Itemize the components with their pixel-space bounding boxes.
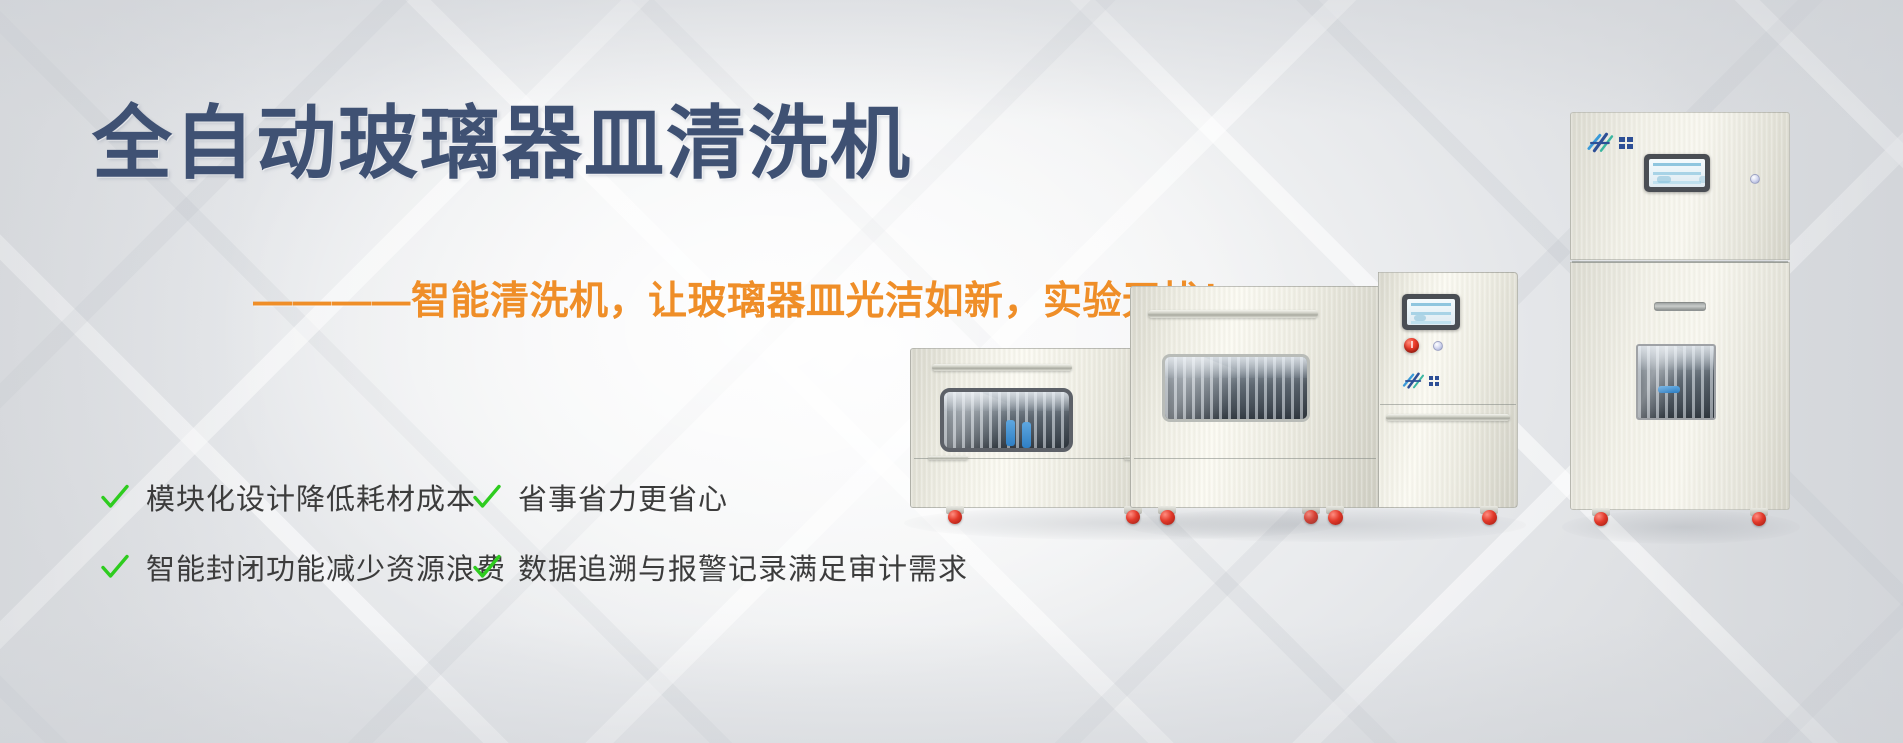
check-icon [472, 482, 502, 512]
h-brand-logo [1586, 132, 1634, 154]
list-item-label: 省事省力更省心 [518, 476, 728, 518]
h-brand-logo [1402, 372, 1440, 390]
list-item: 智能封闭功能减少资源浪费 [100, 546, 472, 588]
blue-pipette-tip [1006, 420, 1015, 446]
check-icon [472, 552, 502, 582]
washer-door-handle [1148, 310, 1318, 318]
body-seam [1572, 261, 1788, 263]
feature-row: 模块化设计降低耗材成本 省事省力更省心 [100, 462, 980, 532]
body-seam [1380, 404, 1516, 405]
status-indicator[interactable] [1750, 174, 1760, 184]
page-title: 全自动玻璃器皿清洗机 [92, 104, 912, 184]
tower-drawer-handle [1386, 414, 1510, 421]
washer-touchscreen[interactable] [1402, 294, 1460, 330]
list-item: 数据追溯与报警记录满足审计需求 [472, 546, 932, 588]
list-item-label: 智能封闭功能减少资源浪费 [146, 546, 506, 588]
touchscreen-display [1649, 159, 1705, 187]
caster-wheel [948, 510, 962, 524]
product-shadow [1124, 508, 1526, 542]
reset-button[interactable] [1433, 341, 1443, 351]
check-icon [100, 552, 130, 582]
caster-wheel [1594, 512, 1608, 526]
product-freestanding-glassware-washer [1130, 272, 1520, 522]
check-icon [100, 482, 130, 512]
lower-drawer-handle [928, 456, 968, 460]
list-item-label: 数据追溯与报警记录满足审计需求 [518, 546, 968, 588]
list-item: 省事省力更省心 [472, 476, 932, 518]
blue-pipette-tip [1022, 422, 1031, 448]
emergency-stop-button[interactable] [1404, 338, 1419, 353]
logo-wordmark [1429, 376, 1440, 386]
washer-view-window [940, 388, 1073, 452]
caster-wheel [1752, 512, 1766, 526]
body-seam [1134, 458, 1376, 459]
touchscreen-display [1407, 299, 1455, 325]
washer-door-handle [932, 364, 1072, 371]
washer-view-window [1162, 354, 1310, 422]
logo-wordmark [1619, 137, 1634, 150]
washer-touchscreen[interactable] [1644, 154, 1710, 192]
caster-wheel [1160, 510, 1175, 525]
door-handle-slot [1654, 302, 1706, 311]
list-item: 模块化设计降低耗材成本 [100, 476, 472, 518]
washer-view-window [1636, 344, 1716, 420]
product-image-group [1090, 0, 1903, 743]
feature-row: 智能封闭功能减少资源浪费 数据追溯与报警记录满足审计需求 [100, 532, 980, 602]
feature-list: 模块化设计降低耗材成本 省事省力更省心 [100, 462, 980, 602]
promo-banner: 全自动玻璃器皿清洗机 ————智能清洗机，让玻璃器皿光洁如新，实验无忧！ 模块化… [0, 0, 1903, 743]
list-item-label: 模块化设计降低耗材成本 [146, 476, 476, 518]
caster-wheel [1328, 510, 1343, 525]
caster-wheel [1482, 510, 1497, 525]
product-tall-column-glassware-washer [1570, 112, 1792, 524]
